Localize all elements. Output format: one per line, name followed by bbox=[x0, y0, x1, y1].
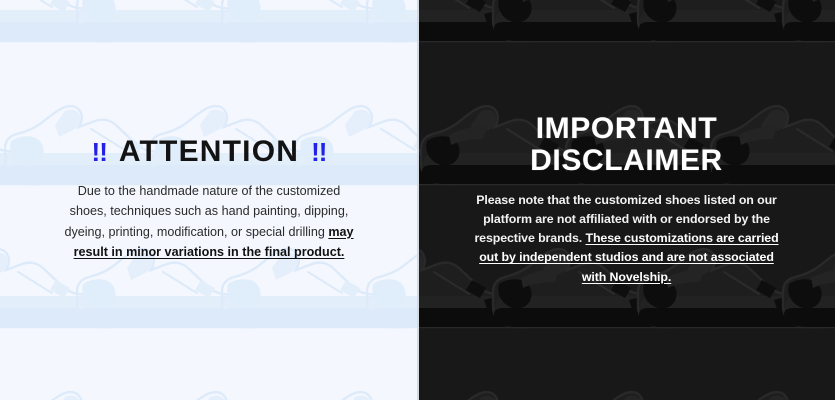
disclaimer-headline-line1: IMPORTANT bbox=[434, 113, 819, 145]
attention-headline: !! ATTENTION !! bbox=[16, 137, 402, 168]
attention-body-text: Due to the handmade nature of the custom… bbox=[59, 181, 359, 263]
exclamation-left-icon: !! bbox=[92, 139, 107, 165]
disclaimer-headline: IMPORTANT DISCLAIMER bbox=[434, 113, 819, 177]
disclaimer-panel: IMPORTANT DISCLAIMER Please note that th… bbox=[418, 0, 835, 400]
attention-headline-text: ATTENTION bbox=[119, 137, 299, 168]
panel-divider bbox=[417, 0, 419, 400]
exclamation-right-icon: !! bbox=[311, 139, 326, 165]
disclaimer-content: IMPORTANT DISCLAIMER Please note that th… bbox=[418, 113, 835, 287]
disclaimer-banner: !! ATTENTION !! Due to the handmade natu… bbox=[0, 0, 835, 400]
attention-panel: !! ATTENTION !! Due to the handmade natu… bbox=[0, 0, 418, 400]
attention-content: !! ATTENTION !! Due to the handmade natu… bbox=[0, 137, 418, 262]
disclaimer-body-text: Please note that the customized shoes li… bbox=[467, 191, 787, 287]
disclaimer-headline-line2: DISCLAIMER bbox=[434, 145, 819, 177]
attention-body-plain: Due to the handmade nature of the custom… bbox=[64, 184, 348, 239]
